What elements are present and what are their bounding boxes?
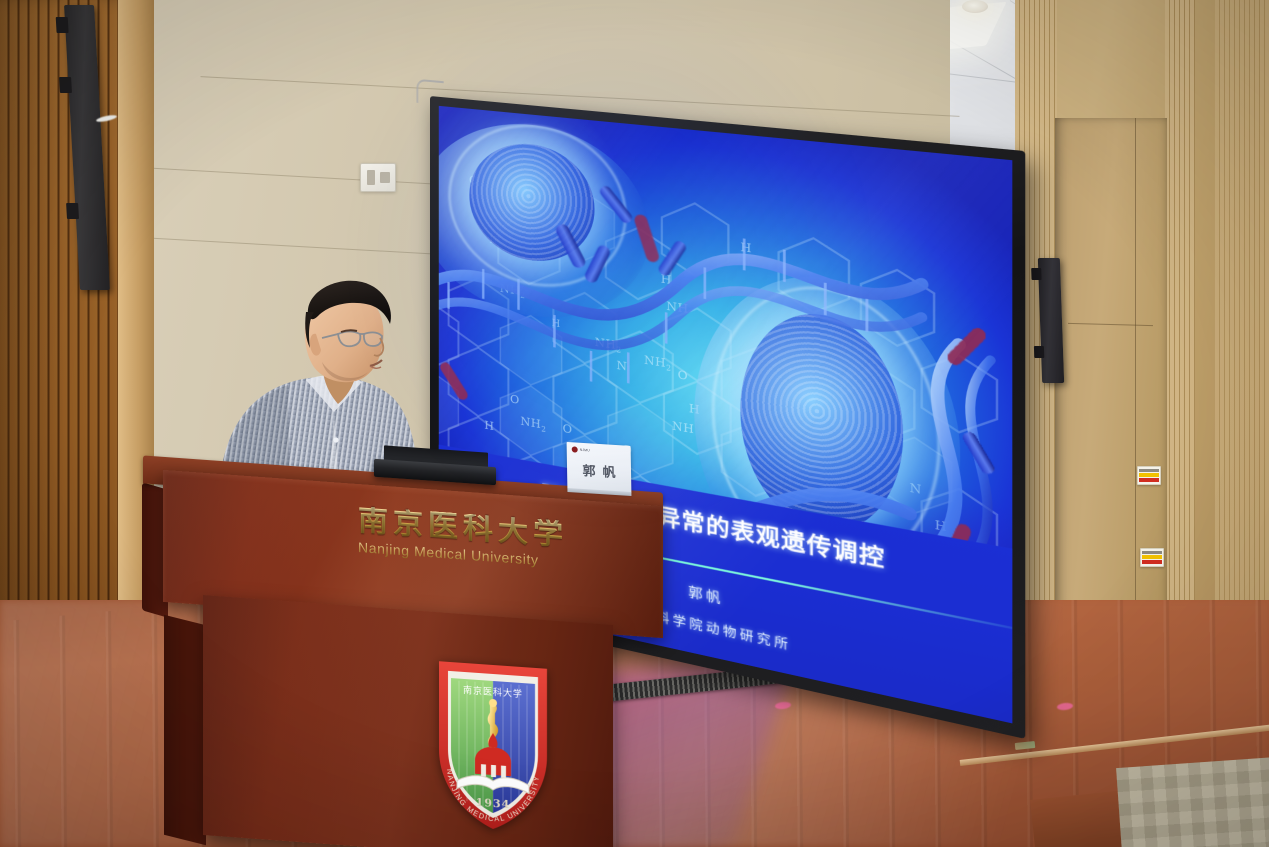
door-split-line xyxy=(1135,118,1136,648)
name-card-logo-text: NJMU xyxy=(580,448,590,453)
wall-outlet[interactable] xyxy=(360,163,396,192)
ceiling-downlight xyxy=(962,0,988,13)
door-warning-sign xyxy=(1137,466,1161,485)
name-card-face: NJMU 郭帆 xyxy=(567,442,632,493)
logo-mark-icon xyxy=(572,446,578,452)
door-warning-sign xyxy=(1140,548,1164,567)
name-card-logo: NJMU xyxy=(572,446,590,453)
right-door[interactable] xyxy=(1055,118,1167,648)
display-cable xyxy=(416,79,443,105)
wall-speaker-right xyxy=(1038,258,1064,383)
podium-lectern: 南京医科大学 Nanjing Medical University xyxy=(143,474,663,847)
crest-year: 1934 xyxy=(476,796,511,811)
name-card-name: 郭帆 xyxy=(567,459,631,482)
speaker-name-card: NJMU 郭帆 xyxy=(567,442,632,493)
university-crest: 南京医科大学 1934 NANJING MED xyxy=(431,653,555,840)
carpet-floor xyxy=(1116,752,1269,847)
podium-base-side xyxy=(164,615,206,845)
lecture-hall-photo: O N H NH2 H NH2 H NH NH2 N O H NH O NH2 … xyxy=(0,0,1269,847)
